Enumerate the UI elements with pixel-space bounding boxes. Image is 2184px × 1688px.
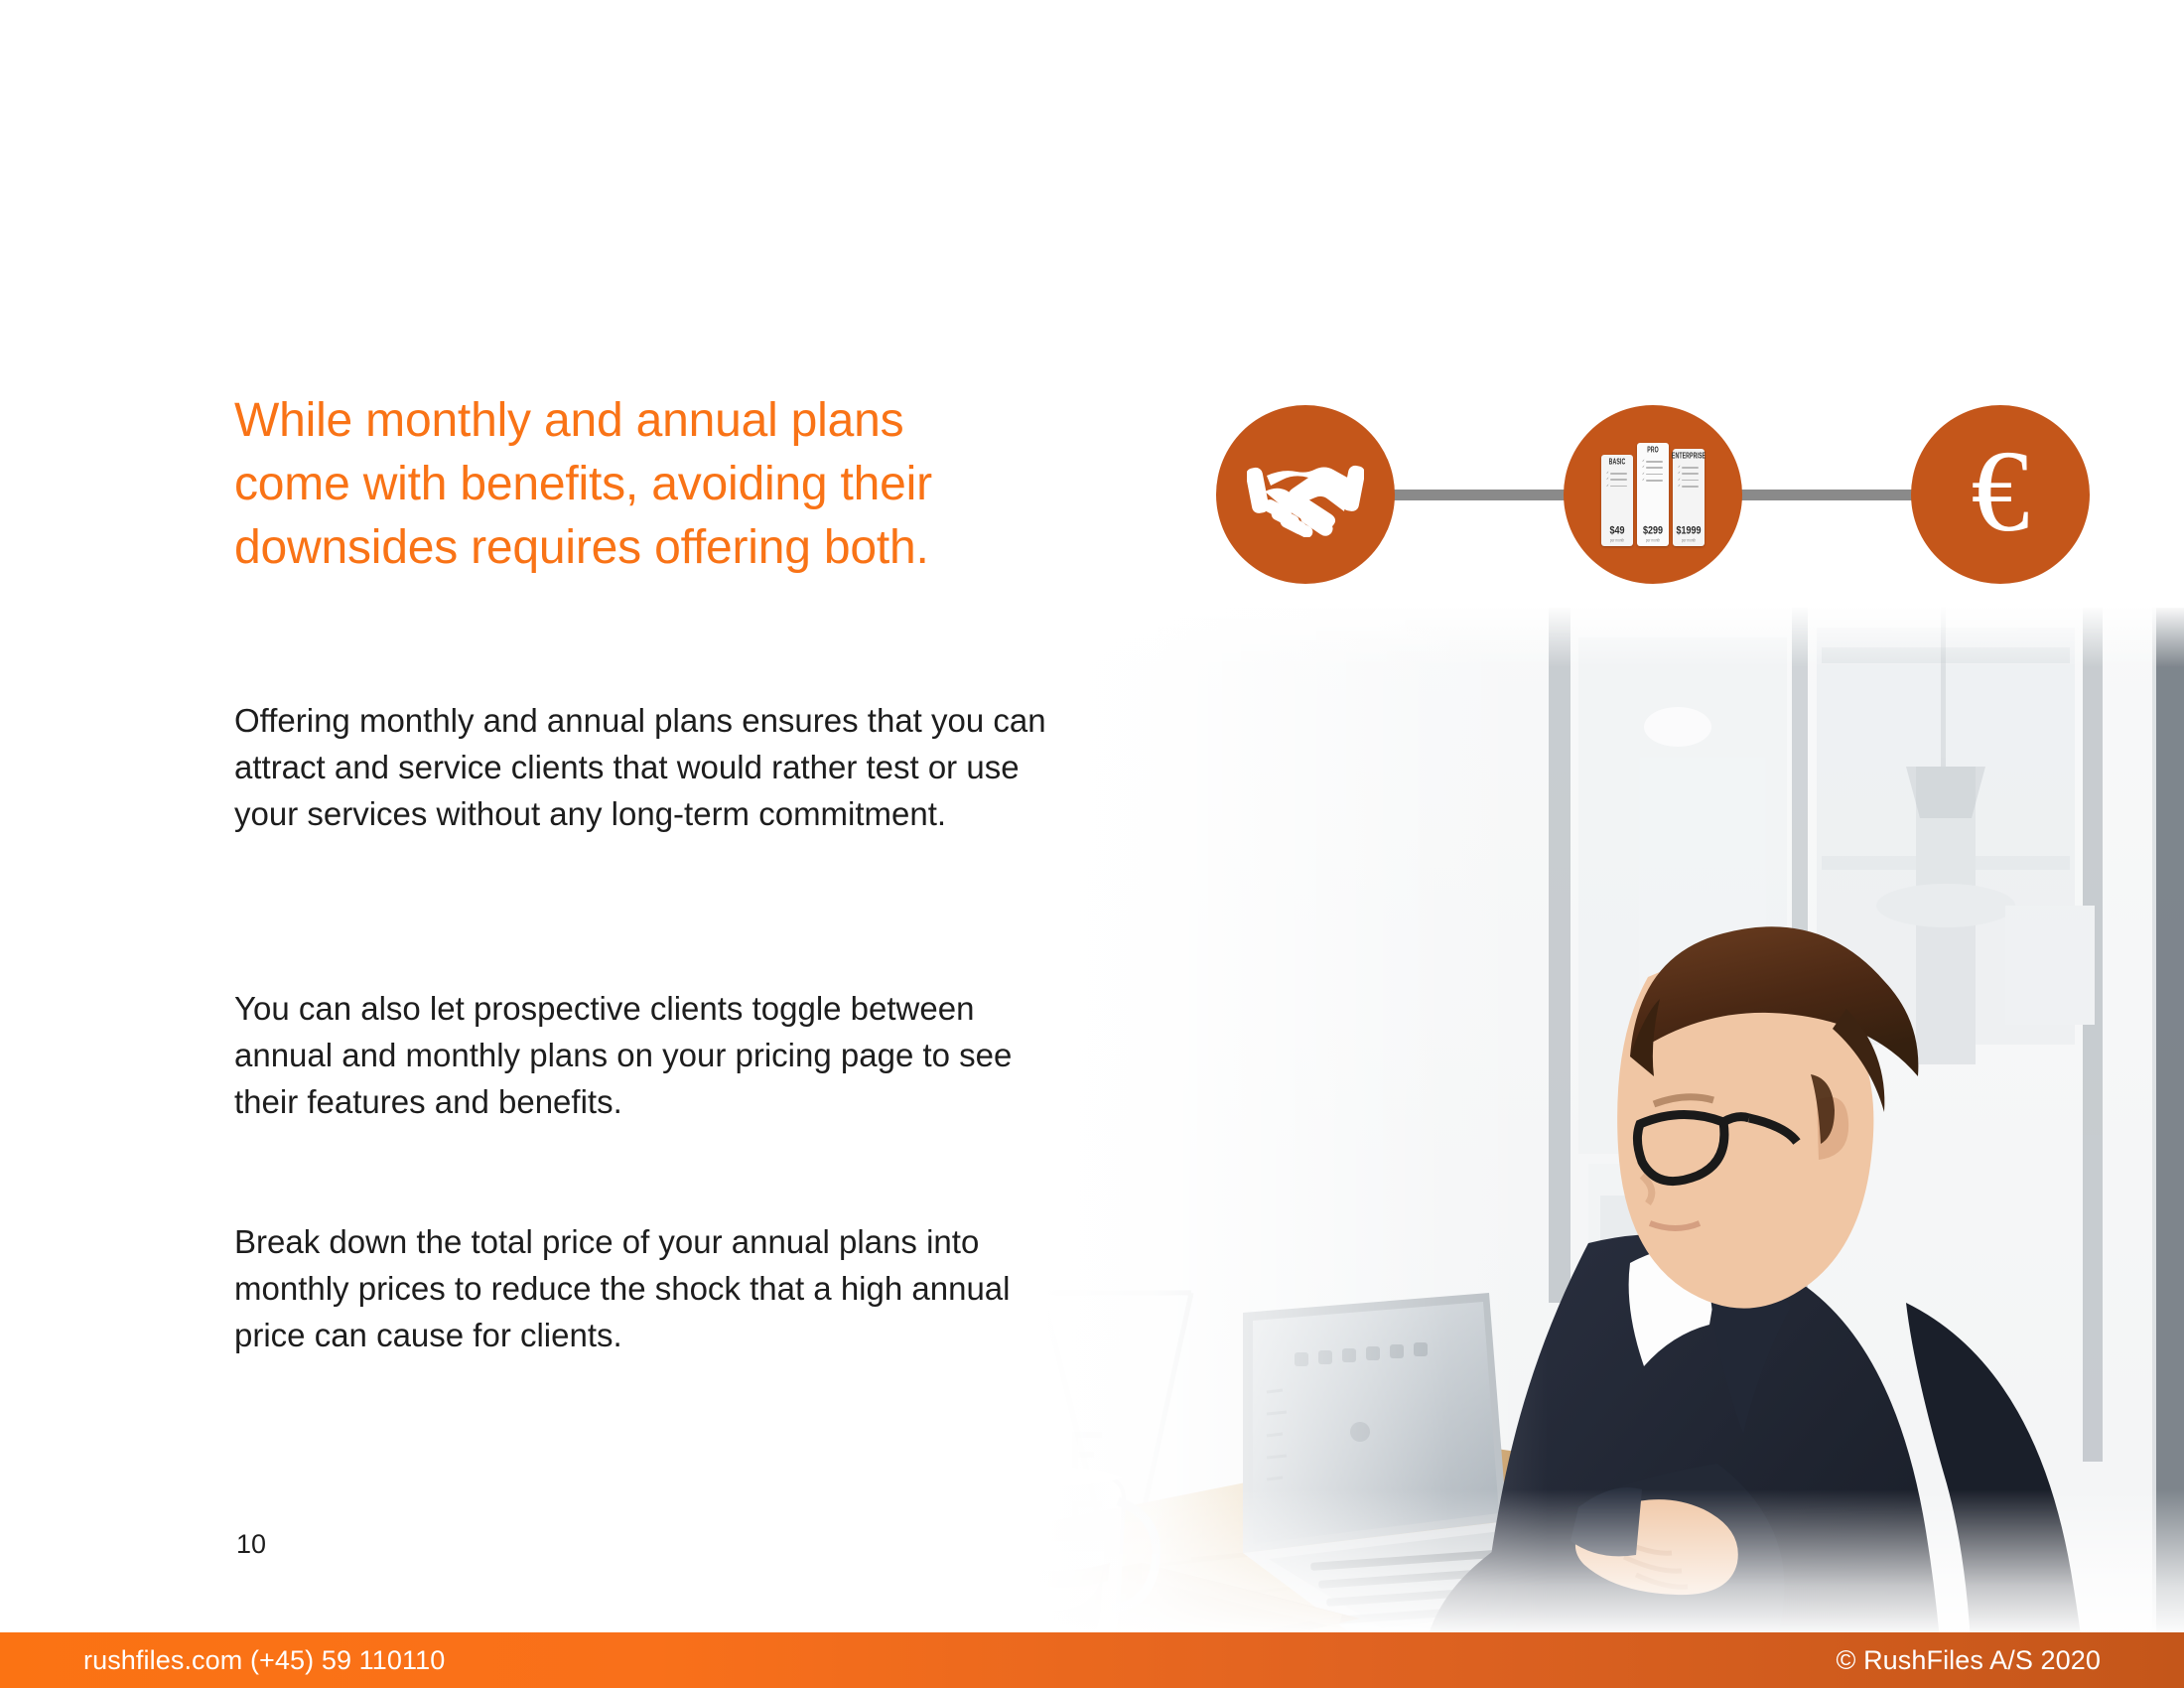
check-icon: ✓	[1678, 485, 1681, 488]
feature-row: ✓	[1606, 485, 1630, 488]
check-icon: ✓	[1642, 466, 1645, 469]
pricing-card-price: $49	[1609, 525, 1624, 536]
feature-row: ✓	[1606, 478, 1630, 481]
body-paragraph-1: Offering monthly and annual plans ensure…	[234, 698, 1058, 838]
feature-bar	[1682, 473, 1699, 475]
feature-bar	[1646, 467, 1663, 469]
euro-circle: €	[1911, 405, 2090, 584]
feature-row: ✓	[1678, 485, 1702, 488]
check-icon: ✓	[1606, 485, 1609, 488]
feature-row: ✓	[1642, 460, 1666, 463]
hero-photo-image	[893, 608, 2184, 1638]
check-icon: ✓	[1642, 473, 1645, 476]
check-icon: ✓	[1678, 466, 1681, 469]
pricing-card-features: ✓ ✓ ✓ ✓	[1676, 466, 1702, 523]
pricing-card-title: BASIC	[1609, 459, 1626, 468]
check-icon: ✓	[1606, 472, 1609, 475]
pricing-card-features: ✓ ✓ ✓	[1604, 472, 1630, 523]
pricing-cards: BASIC ✓ ✓ ✓ $49 per month PRO ✓ ✓ ✓	[1601, 443, 1705, 546]
footer-copyright: © RushFiles A/S 2020	[1836, 1645, 2101, 1676]
feature-bar	[1682, 480, 1699, 482]
feature-row: ✓	[1642, 473, 1666, 476]
pricing-card: PRO ✓ ✓ ✓ ✓ $299 per month	[1637, 443, 1669, 546]
process-diagram: BASIC ✓ ✓ ✓ $49 per month PRO ✓ ✓ ✓	[1216, 405, 2090, 584]
feature-bar	[1682, 467, 1699, 469]
feature-bar	[1646, 480, 1663, 482]
feature-bar	[1610, 479, 1627, 481]
pricing-card-features: ✓ ✓ ✓ ✓	[1640, 460, 1666, 523]
footer-bar: rushfiles.com (+45) 59 110110 © RushFile…	[0, 1632, 2184, 1688]
feature-row: ✓	[1678, 479, 1702, 482]
pricing-card: ENTERPRISE ✓ ✓ ✓ ✓ $1999 per month	[1673, 449, 1705, 546]
footer-contact: rushfiles.com (+45) 59 110110	[83, 1645, 445, 1676]
check-icon: ✓	[1678, 472, 1681, 475]
feature-row: ✓	[1678, 466, 1702, 469]
feature-bar	[1646, 474, 1663, 476]
pricing-card-price: $1999	[1676, 525, 1701, 536]
hero-photo	[893, 608, 2184, 1638]
pricing-card-title: PRO	[1647, 447, 1659, 456]
body-paragraph-2: You can also let prospective clients tog…	[234, 986, 1058, 1126]
feature-bar	[1646, 461, 1663, 463]
feature-bar	[1610, 486, 1627, 488]
check-icon: ✓	[1642, 460, 1645, 463]
pricing-card-period: per month	[1610, 537, 1624, 543]
feature-row: ✓	[1678, 472, 1702, 475]
check-icon: ✓	[1606, 478, 1609, 481]
slide: While monthly and annual plans come with…	[0, 0, 2184, 1688]
feature-row: ✓	[1606, 472, 1630, 475]
feature-row: ✓	[1642, 466, 1666, 469]
feature-bar	[1682, 486, 1699, 488]
pricing-card-title: ENTERPRISE	[1672, 453, 1706, 462]
handshake-circle	[1216, 405, 1395, 584]
pricing-card: BASIC ✓ ✓ ✓ $49 per month	[1601, 455, 1633, 546]
pricing-card-price: $299	[1643, 525, 1663, 536]
euro-icon: €	[1972, 433, 2030, 550]
check-icon: ✓	[1678, 479, 1681, 482]
page-title: While monthly and annual plans come with…	[234, 389, 1019, 579]
pricing-card-period: per month	[1682, 537, 1696, 543]
check-icon: ✓	[1642, 479, 1645, 482]
page-number: 10	[236, 1529, 266, 1560]
body-paragraph-3: Break down the total price of your annua…	[234, 1219, 1058, 1359]
pricing-tables-circle: BASIC ✓ ✓ ✓ $49 per month PRO ✓ ✓ ✓	[1564, 405, 1742, 584]
feature-row: ✓	[1642, 479, 1666, 482]
handshake-icon	[1247, 452, 1364, 537]
pricing-card-period: per month	[1646, 537, 1660, 543]
feature-bar	[1610, 473, 1627, 475]
